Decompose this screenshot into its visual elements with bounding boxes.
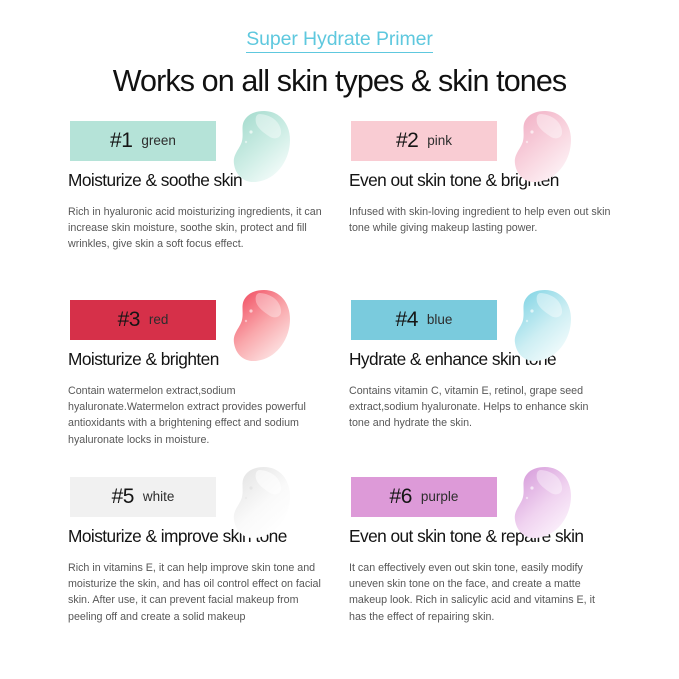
- badge-row-5: #5 white: [68, 475, 349, 521]
- card-body-5: Rich in vitamins E, it can help improve …: [68, 560, 330, 625]
- card-body-6: It can effectively even out skin tone, e…: [349, 560, 611, 625]
- shade-name-6: purple: [421, 490, 459, 504]
- card-body-4: Contains vitamin C, vitamin E, retinol, …: [349, 383, 611, 432]
- shade-number-5: #5: [112, 486, 134, 507]
- product-card-2: #2 pink: [349, 119, 630, 298]
- badge-row-4: #4 blue: [349, 298, 630, 344]
- page-title: Works on all skin types & skin tones: [0, 65, 679, 99]
- infographic-page: Super Hydrate Primer Works on all skin t…: [0, 0, 679, 679]
- product-card-4: #4 blue: [349, 298, 630, 475]
- shade-number-4: #4: [396, 309, 418, 330]
- shade-badge-6: #6 purple: [351, 477, 497, 517]
- shade-badge-4: #4 blue: [351, 300, 497, 340]
- shade-badge-2: #2 pink: [351, 121, 497, 161]
- shade-name-1: green: [141, 134, 176, 148]
- shade-name-2: pink: [427, 134, 452, 148]
- badge-row-1: #1 green: [68, 119, 349, 165]
- badge-row-2: #2 pink: [349, 119, 630, 165]
- shade-number-3: #3: [118, 309, 140, 330]
- card-heading-3: Moisturize & brighten: [68, 349, 349, 370]
- badge-row-6: #6 purple: [349, 475, 630, 521]
- product-card-5: #5 white: [68, 475, 349, 665]
- shade-badge-5: #5 white: [70, 477, 216, 517]
- shade-number-1: #1: [110, 130, 132, 151]
- card-heading-5: Moisturize & improve skin tone: [68, 526, 349, 547]
- badge-row-3: #3 red: [68, 298, 349, 344]
- shade-name-5: white: [143, 490, 175, 504]
- shade-number-2: #2: [396, 130, 418, 151]
- brand-title: Super Hydrate Primer: [246, 28, 433, 53]
- card-heading-2: Even out skin tone & brighten: [349, 170, 630, 191]
- card-heading-4: Hydrate & enhance skin tone: [349, 349, 630, 370]
- shade-badge-1: #1 green: [70, 121, 216, 161]
- card-body-2: Infused with skin-loving ingredient to h…: [349, 204, 611, 237]
- shade-badge-3: #3 red: [70, 300, 216, 340]
- shade-name-3: red: [149, 313, 169, 327]
- benefits-grid: #1 green: [0, 119, 679, 665]
- shade-name-4: blue: [427, 313, 453, 327]
- product-card-3: #3 red: [68, 298, 349, 475]
- page-header: Super Hydrate Primer Works on all skin t…: [0, 0, 679, 99]
- shade-number-6: #6: [390, 486, 412, 507]
- product-card-6: #6 purple: [349, 475, 630, 665]
- card-body-1: Rich in hyaluronic acid moisturizing ing…: [68, 204, 330, 253]
- card-heading-1: Moisturize & soothe skin: [68, 170, 349, 191]
- card-heading-6: Even out skin tone & repaire skin: [349, 526, 630, 547]
- card-body-3: Contain watermelon extract,sodium hyalur…: [68, 383, 330, 448]
- product-card-1: #1 green: [68, 119, 349, 298]
